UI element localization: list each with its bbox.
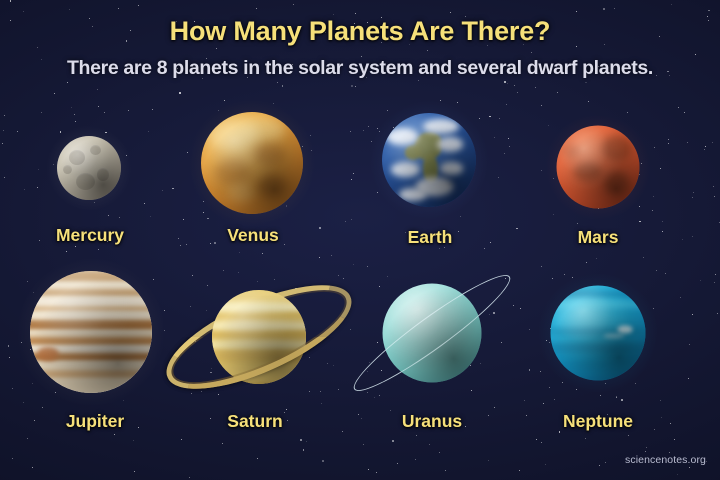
planet-jupiter-icon xyxy=(30,271,152,393)
page-subtitle: There are 8 planets in the solar system … xyxy=(0,57,720,80)
planet-label-jupiter: Jupiter xyxy=(66,411,124,432)
planet-venus-icon xyxy=(201,112,303,214)
planets-infographic: How Many Planets Are There? There are 8 … xyxy=(0,0,720,480)
planet-earth-icon xyxy=(382,113,476,207)
planet-label-mercury: Mercury xyxy=(56,225,124,246)
saturn-body xyxy=(212,290,306,384)
planet-neptune-icon xyxy=(551,286,646,381)
planet-label-uranus: Uranus xyxy=(402,411,462,432)
planet-mercury-icon xyxy=(57,136,121,200)
planet-mars-icon xyxy=(557,126,640,209)
planet-label-saturn: Saturn xyxy=(227,411,282,432)
page-title: How Many Planets Are There? xyxy=(0,16,720,47)
planet-saturn-icon xyxy=(157,242,361,432)
watermark: sciencenotes.org xyxy=(625,454,706,466)
planet-label-neptune: Neptune xyxy=(563,411,633,432)
planet-label-mars: Mars xyxy=(578,227,619,248)
planet-uranus-icon xyxy=(337,238,527,428)
